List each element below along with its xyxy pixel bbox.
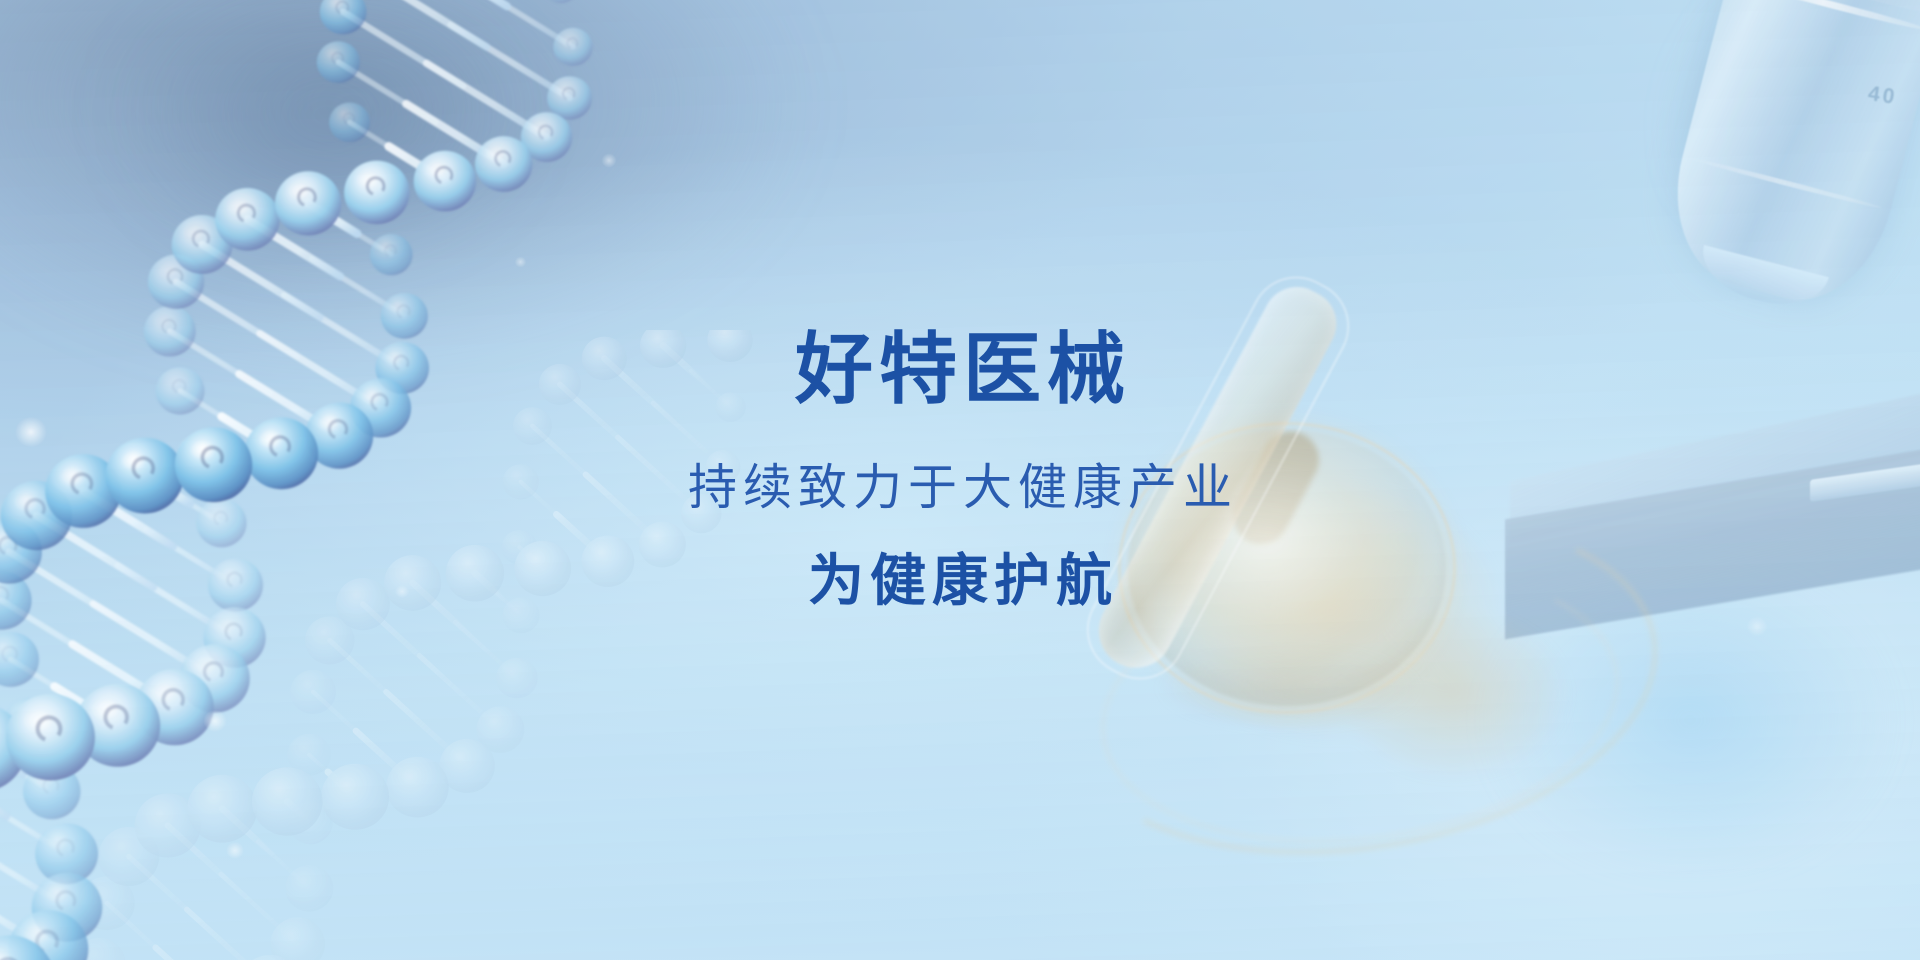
brand-slogan: 为健康护航 xyxy=(0,553,1920,609)
bokeh-speck xyxy=(198,705,232,737)
brand-title: 好特医械 xyxy=(0,330,1920,408)
bokeh-speck xyxy=(512,254,529,270)
bokeh-speck xyxy=(222,838,248,863)
bokeh-speck xyxy=(1742,612,1772,641)
brand-subtitle: 持续致力于大健康产业 xyxy=(0,464,1920,513)
hero-text-block: 好特医械 持续致力于大健康产业 为健康护航 xyxy=(0,330,1920,609)
hero-banner: 40 xyxy=(0,0,1920,960)
bokeh-speck xyxy=(598,150,620,171)
